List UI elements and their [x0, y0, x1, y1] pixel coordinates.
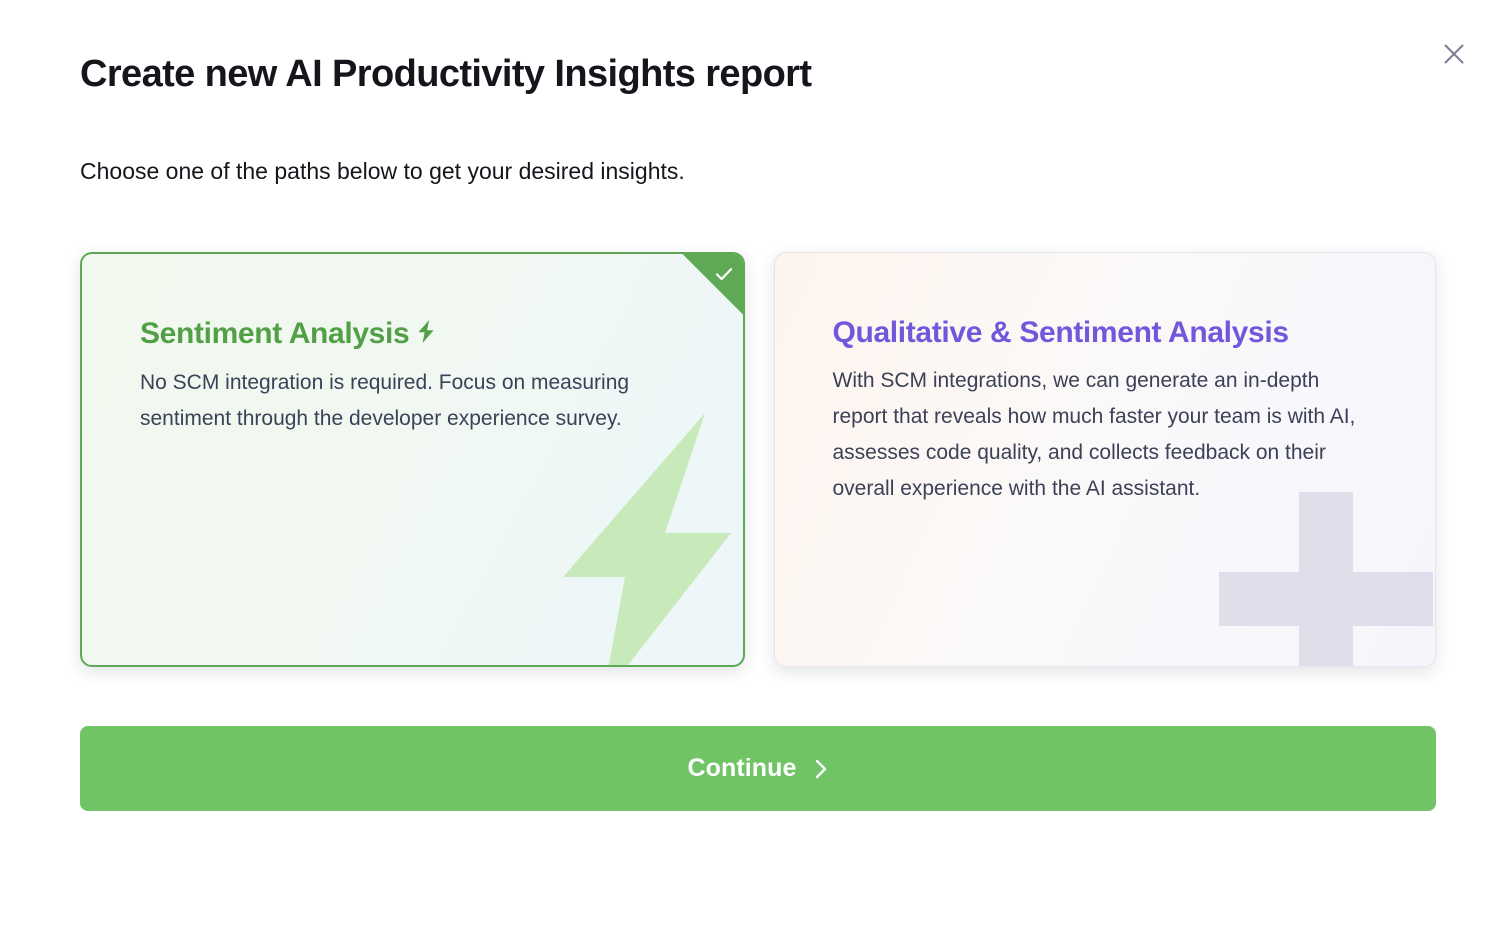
card-title: Sentiment Analysis — [140, 316, 687, 352]
card-body: Qualitative & Sentiment Analysis With SC… — [775, 253, 1436, 508]
card-body: Sentiment Analysis No SCM integration is… — [82, 254, 743, 437]
close-icon — [1439, 39, 1469, 69]
card-description: No SCM integration is required. Focus on… — [140, 365, 685, 437]
card-qualitative-sentiment-analysis[interactable]: Qualitative & Sentiment Analysis With SC… — [774, 252, 1437, 667]
continue-button[interactable]: Continue — [80, 726, 1436, 811]
card-sentiment-analysis[interactable]: Sentiment Analysis No SCM integration is… — [80, 252, 745, 667]
card-title: Qualitative & Sentiment Analysis — [833, 315, 1380, 350]
create-report-modal: Create new AI Productivity Insights repo… — [0, 0, 1512, 936]
close-button[interactable] — [1434, 34, 1474, 74]
plus-watermark — [1211, 484, 1436, 667]
page-title: Create new AI Productivity Insights repo… — [80, 52, 811, 97]
chevron-right-icon — [813, 757, 829, 781]
lightning-bolt-watermark — [519, 405, 745, 667]
page-subtitle: Choose one of the paths below to get you… — [80, 157, 685, 187]
card-description: With SCM integrations, we can generate a… — [833, 363, 1368, 507]
path-options-list: Sentiment Analysis No SCM integration is… — [80, 252, 1436, 667]
continue-button-label: Continue — [687, 754, 796, 783]
lightning-bolt-icon — [416, 317, 436, 352]
